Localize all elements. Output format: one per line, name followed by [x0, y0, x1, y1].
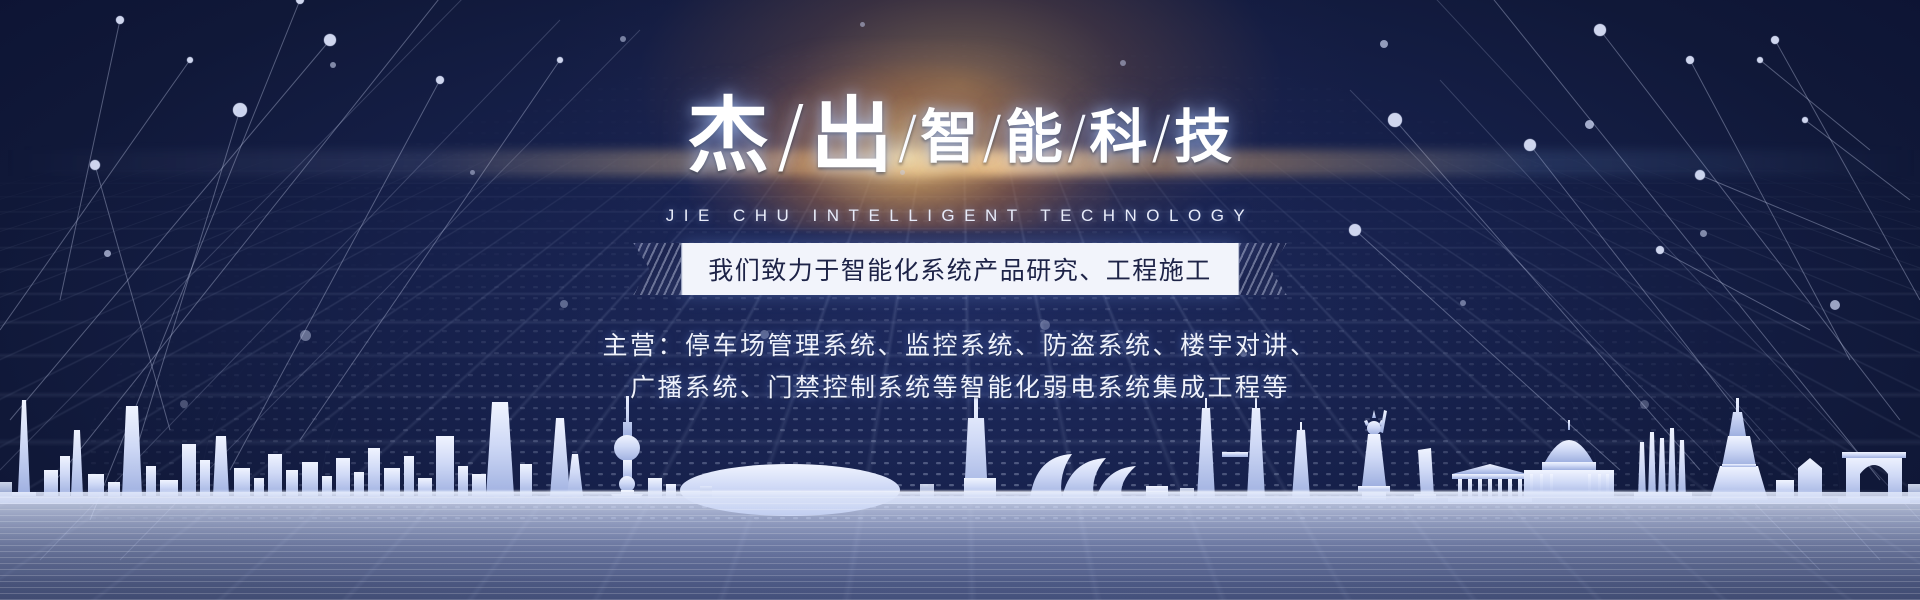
services-line-2: 广播系统、门禁控制系统等智能化弱电系统集成工程等 [0, 367, 1920, 409]
title-separator-2: / [898, 103, 918, 171]
hero-banner: 杰/出/智/能/科/技 JIE CHU INTELLIGENT TECHNOLO… [0, 0, 1920, 600]
ribbon-slogan-text: 我们致力于智能化系统产品研究、工程施工 [708, 251, 1212, 287]
title-char-3: 智 [920, 103, 979, 171]
ribbon-right-tail [1239, 243, 1287, 295]
title-char-6: 技 [1174, 103, 1233, 171]
title-char-1: 杰 [687, 89, 771, 184]
title-separator-4: / [1067, 103, 1087, 171]
ribbon-left-tail [633, 243, 681, 295]
page-title: 杰/出/智/能/科/技 [0, 96, 1920, 178]
title-char-5: 科 [1089, 103, 1148, 171]
title-separator-1: / [777, 89, 805, 184]
title-separator-3: / [982, 103, 1002, 171]
services-description: 主营：停车场管理系统、监控系统、防盗系统、楼宇对讲、 广播系统、门禁控制系统等智… [0, 325, 1920, 409]
english-subtitle: JIE CHU INTELLIGENT TECHNOLOGY [0, 206, 1920, 226]
title-separator-5: / [1151, 103, 1171, 171]
title-char-2: 出 [811, 89, 895, 184]
slogan-ribbon: 我们致力于智能化系统产品研究、工程施工 [633, 243, 1287, 295]
services-line-1: 主营：停车场管理系统、监控系统、防盗系统、楼宇对讲、 [0, 325, 1920, 367]
banner-content: 杰/出/智/能/科/技 JIE CHU INTELLIGENT TECHNOLO… [0, 0, 1920, 600]
ribbon-plate: 我们致力于智能化系统产品研究、工程施工 [681, 243, 1239, 295]
title-char-4: 能 [1005, 103, 1064, 171]
